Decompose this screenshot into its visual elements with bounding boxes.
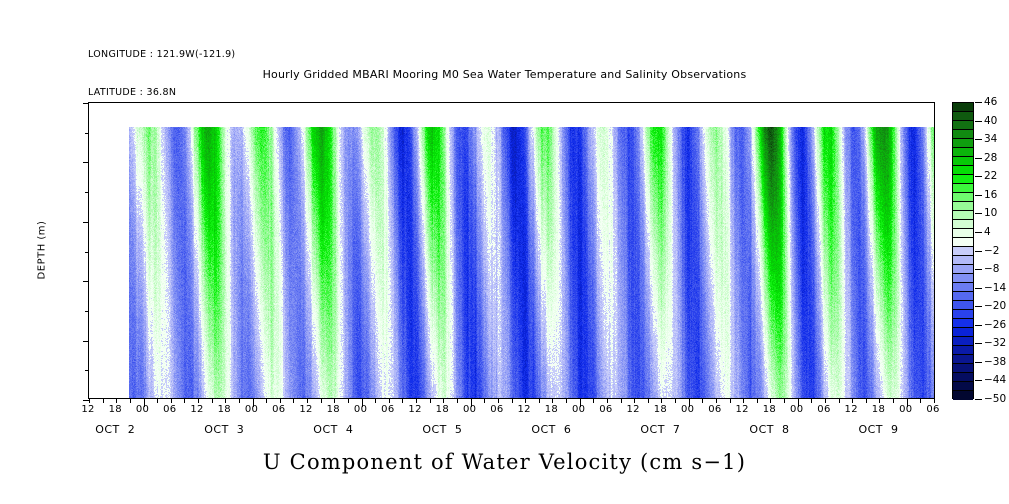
colorbar-label: 40 bbox=[984, 115, 997, 127]
colorbar-band bbox=[953, 211, 973, 220]
colorbar bbox=[952, 102, 974, 399]
x-axis-hour-label: 12 bbox=[408, 404, 421, 415]
colorbar-tick bbox=[975, 288, 982, 289]
x-axis-minor-tick bbox=[375, 398, 376, 403]
x-axis-day-label: OCT 9 bbox=[858, 423, 898, 436]
x-axis-minor-tick bbox=[157, 398, 158, 403]
x-axis-hour-label: 00 bbox=[245, 404, 258, 415]
y-axis-tick bbox=[83, 162, 89, 163]
colorbar-band bbox=[953, 346, 973, 355]
x-axis-day-label: OCT 7 bbox=[640, 423, 680, 436]
longitude-line: LONGITUDE : 121.9W(-121.9) bbox=[88, 49, 235, 62]
x-axis-day-label: OCT 4 bbox=[313, 423, 353, 436]
x-axis-minor-tick bbox=[770, 398, 771, 403]
x-axis-minor-tick bbox=[784, 398, 785, 403]
colorbar-band bbox=[953, 103, 973, 112]
x-axis-day-label: OCT 3 bbox=[204, 423, 244, 436]
x-axis-minor-tick bbox=[648, 398, 649, 403]
x-axis-hour-label: 12 bbox=[190, 404, 203, 415]
colorbar-label: 28 bbox=[984, 152, 997, 164]
y-axis-title: DEPTH (m) bbox=[37, 221, 48, 280]
colorbar-label: 22 bbox=[984, 170, 997, 182]
colorbar-band bbox=[953, 328, 973, 337]
colorbar-band bbox=[953, 238, 973, 247]
colorbar-tick bbox=[975, 269, 982, 270]
colorbar-tick bbox=[975, 399, 982, 400]
colorbar-band bbox=[953, 220, 973, 229]
velocity-heatmap-canvas bbox=[89, 103, 934, 398]
colorbar-tick bbox=[975, 232, 982, 233]
x-axis-minor-tick bbox=[212, 398, 213, 403]
x-axis-hour-label: 18 bbox=[545, 404, 558, 415]
y-axis-minor-tick bbox=[85, 192, 89, 193]
x-axis-minor-tick bbox=[852, 398, 853, 403]
colorbar-label: −32 bbox=[984, 337, 1006, 349]
x-axis-minor-tick bbox=[498, 398, 499, 403]
x-axis-hour-label: 18 bbox=[109, 404, 122, 415]
colorbar-label: 16 bbox=[984, 189, 997, 201]
colorbar-label: −2 bbox=[984, 245, 999, 257]
x-axis-minor-tick bbox=[634, 398, 635, 403]
x-axis-minor-tick bbox=[825, 398, 826, 403]
colorbar-band bbox=[953, 193, 973, 202]
colorbar-tick bbox=[975, 195, 982, 196]
colorbar-band bbox=[953, 175, 973, 184]
colorbar-tick bbox=[975, 325, 982, 326]
colorbar-band bbox=[953, 139, 973, 148]
y-axis-tick bbox=[83, 341, 89, 342]
colorbar-tick bbox=[975, 306, 982, 307]
x-axis-minor-tick bbox=[552, 398, 553, 403]
x-axis-minor-tick bbox=[198, 398, 199, 403]
x-axis-hour-label: 06 bbox=[817, 404, 830, 415]
colorbar-band bbox=[953, 229, 973, 238]
x-axis-minor-tick bbox=[116, 398, 117, 403]
x-axis-minor-tick bbox=[130, 398, 131, 403]
colorbar-band bbox=[953, 184, 973, 193]
x-axis-hour-label: 18 bbox=[654, 404, 667, 415]
x-axis-minor-tick bbox=[879, 398, 880, 403]
x-axis-minor-tick bbox=[89, 398, 90, 403]
colorbar-tick bbox=[975, 213, 982, 214]
x-axis-minor-tick bbox=[416, 398, 417, 403]
x-axis-hour-label: 00 bbox=[136, 404, 149, 415]
x-axis-hour-label: 12 bbox=[736, 404, 749, 415]
velocity-field bbox=[89, 103, 934, 398]
colorbar-tick bbox=[975, 362, 982, 363]
colorbar-band bbox=[953, 319, 973, 328]
colorbar-label: 46 bbox=[984, 96, 997, 108]
colorbar-label: −14 bbox=[984, 282, 1006, 294]
x-axis-minor-tick bbox=[280, 398, 281, 403]
x-axis-minor-tick bbox=[239, 398, 240, 403]
x-axis-hour-label: 06 bbox=[926, 404, 939, 415]
x-axis-day-label: OCT 2 bbox=[95, 423, 135, 436]
x-axis-minor-tick bbox=[702, 398, 703, 403]
colorbar-tick bbox=[975, 343, 982, 344]
colorbar-band bbox=[953, 130, 973, 139]
x-axis-minor-tick bbox=[348, 398, 349, 403]
x-axis-minor-tick bbox=[484, 398, 485, 403]
latitude-line: LATITUDE : 36.8N bbox=[88, 87, 235, 100]
x-axis-minor-tick bbox=[307, 398, 308, 403]
x-axis-minor-tick bbox=[430, 398, 431, 403]
colorbar-tick bbox=[975, 139, 982, 140]
x-axis-hour-label: 00 bbox=[572, 404, 585, 415]
colorbar-band bbox=[953, 310, 973, 319]
x-axis-minor-tick bbox=[443, 398, 444, 403]
x-axis-day-label: OCT 8 bbox=[749, 423, 789, 436]
x-axis-minor-tick bbox=[920, 398, 921, 403]
colorbar-band bbox=[953, 112, 973, 121]
colorbar-label: −8 bbox=[984, 263, 999, 275]
y-axis-tick bbox=[83, 222, 89, 223]
x-axis-minor-tick bbox=[811, 398, 812, 403]
y-axis-tick bbox=[83, 103, 89, 104]
colorbar-label: −44 bbox=[984, 374, 1006, 386]
x-axis-hour-label: 00 bbox=[463, 404, 476, 415]
x-axis-minor-tick bbox=[893, 398, 894, 403]
x-axis-hour-label: 12 bbox=[517, 404, 530, 415]
colorbar-band bbox=[953, 301, 973, 310]
chart-title: Hourly Gridded MBARI Mooring M0 Sea Wate… bbox=[0, 68, 1009, 81]
heatmap-plot-area bbox=[88, 102, 935, 399]
x-axis-hour-label: 18 bbox=[436, 404, 449, 415]
figure-caption: U Component of Water Velocity (cm s−1) bbox=[0, 450, 1009, 474]
x-axis-minor-tick bbox=[539, 398, 540, 403]
x-axis-hour-label: 06 bbox=[381, 404, 394, 415]
x-axis-hour-label: 00 bbox=[790, 404, 803, 415]
x-axis-hour-label: 12 bbox=[81, 404, 94, 415]
x-axis-minor-tick bbox=[661, 398, 662, 403]
colorbar-band bbox=[953, 148, 973, 157]
x-axis-hour-label: 06 bbox=[490, 404, 503, 415]
x-axis-day-label: OCT 5 bbox=[422, 423, 462, 436]
colorbar-band bbox=[953, 391, 973, 400]
x-axis-day-label: OCT 6 bbox=[531, 423, 571, 436]
x-axis-minor-tick bbox=[321, 398, 322, 403]
x-axis-minor-tick bbox=[171, 398, 172, 403]
x-axis-hour-label: 06 bbox=[272, 404, 285, 415]
colorbar-tick bbox=[975, 251, 982, 252]
x-axis-minor-tick bbox=[525, 398, 526, 403]
x-axis-minor-tick bbox=[607, 398, 608, 403]
colorbar-label: 10 bbox=[984, 207, 997, 219]
x-axis-hour-label: 12 bbox=[299, 404, 312, 415]
x-axis-hour-label: 00 bbox=[899, 404, 912, 415]
x-axis-hour-label: 00 bbox=[354, 404, 367, 415]
x-axis-minor-tick bbox=[512, 398, 513, 403]
x-axis-minor-tick bbox=[457, 398, 458, 403]
x-axis-minor-tick bbox=[293, 398, 294, 403]
colorbar-band bbox=[953, 265, 973, 274]
colorbar-label: −26 bbox=[984, 319, 1006, 331]
x-axis-minor-tick bbox=[334, 398, 335, 403]
colorbar-label: −38 bbox=[984, 356, 1006, 368]
x-axis-minor-tick bbox=[389, 398, 390, 403]
colorbar-band bbox=[953, 256, 973, 265]
y-axis-tick bbox=[83, 281, 89, 282]
x-axis-hour-label: 18 bbox=[218, 404, 231, 415]
x-axis-minor-tick bbox=[839, 398, 840, 403]
x-axis-minor-tick bbox=[184, 398, 185, 403]
colorbar-band bbox=[953, 355, 973, 364]
colorbar-band bbox=[953, 157, 973, 166]
colorbar-band bbox=[953, 283, 973, 292]
x-axis-hour-label: 06 bbox=[163, 404, 176, 415]
x-axis-hour-label: 06 bbox=[708, 404, 721, 415]
x-axis-hour-label: 12 bbox=[626, 404, 639, 415]
x-axis-minor-tick bbox=[621, 398, 622, 403]
x-axis-minor-tick bbox=[103, 398, 104, 403]
colorbar-label: −20 bbox=[984, 300, 1006, 312]
colorbar-label: 34 bbox=[984, 133, 997, 145]
colorbar-tick bbox=[975, 158, 982, 159]
x-axis-minor-tick bbox=[402, 398, 403, 403]
colorbar-band bbox=[953, 373, 973, 382]
y-axis-minor-tick bbox=[85, 252, 89, 253]
colorbar-label: 4 bbox=[984, 226, 991, 238]
colorbar-band bbox=[953, 337, 973, 346]
y-axis-minor-tick bbox=[85, 370, 89, 371]
x-axis-hour-label: 12 bbox=[845, 404, 858, 415]
x-axis-minor-tick bbox=[266, 398, 267, 403]
colorbar-band bbox=[953, 247, 973, 256]
colorbar-band bbox=[953, 292, 973, 301]
x-axis-hour-label: 06 bbox=[599, 404, 612, 415]
x-axis-minor-tick bbox=[716, 398, 717, 403]
x-axis-minor-tick bbox=[566, 398, 567, 403]
x-axis-minor-tick bbox=[743, 398, 744, 403]
x-axis-hour-label: 18 bbox=[872, 404, 885, 415]
colorbar-band bbox=[953, 202, 973, 211]
colorbar-band bbox=[953, 274, 973, 283]
colorbar-band bbox=[953, 166, 973, 175]
x-axis-minor-tick bbox=[225, 398, 226, 403]
y-axis-minor-tick bbox=[85, 311, 89, 312]
x-axis-hour-label: 00 bbox=[681, 404, 694, 415]
x-axis-minor-tick bbox=[866, 398, 867, 403]
colorbar-tick bbox=[975, 121, 982, 122]
colorbar-tick bbox=[975, 380, 982, 381]
colorbar-band bbox=[953, 121, 973, 130]
colorbar-tick bbox=[975, 176, 982, 177]
x-axis-hour-label: 18 bbox=[327, 404, 340, 415]
colorbar-label: −50 bbox=[984, 393, 1006, 405]
x-axis-minor-tick bbox=[730, 398, 731, 403]
x-axis-minor-tick bbox=[675, 398, 676, 403]
x-axis-minor-tick bbox=[757, 398, 758, 403]
y-axis-minor-tick bbox=[85, 133, 89, 134]
x-axis-minor-tick bbox=[593, 398, 594, 403]
colorbar-tick bbox=[975, 102, 982, 103]
colorbar-band bbox=[953, 382, 973, 391]
colorbar-band bbox=[953, 364, 973, 373]
x-axis-minor-tick bbox=[934, 398, 935, 403]
x-axis-hour-label: 18 bbox=[763, 404, 776, 415]
